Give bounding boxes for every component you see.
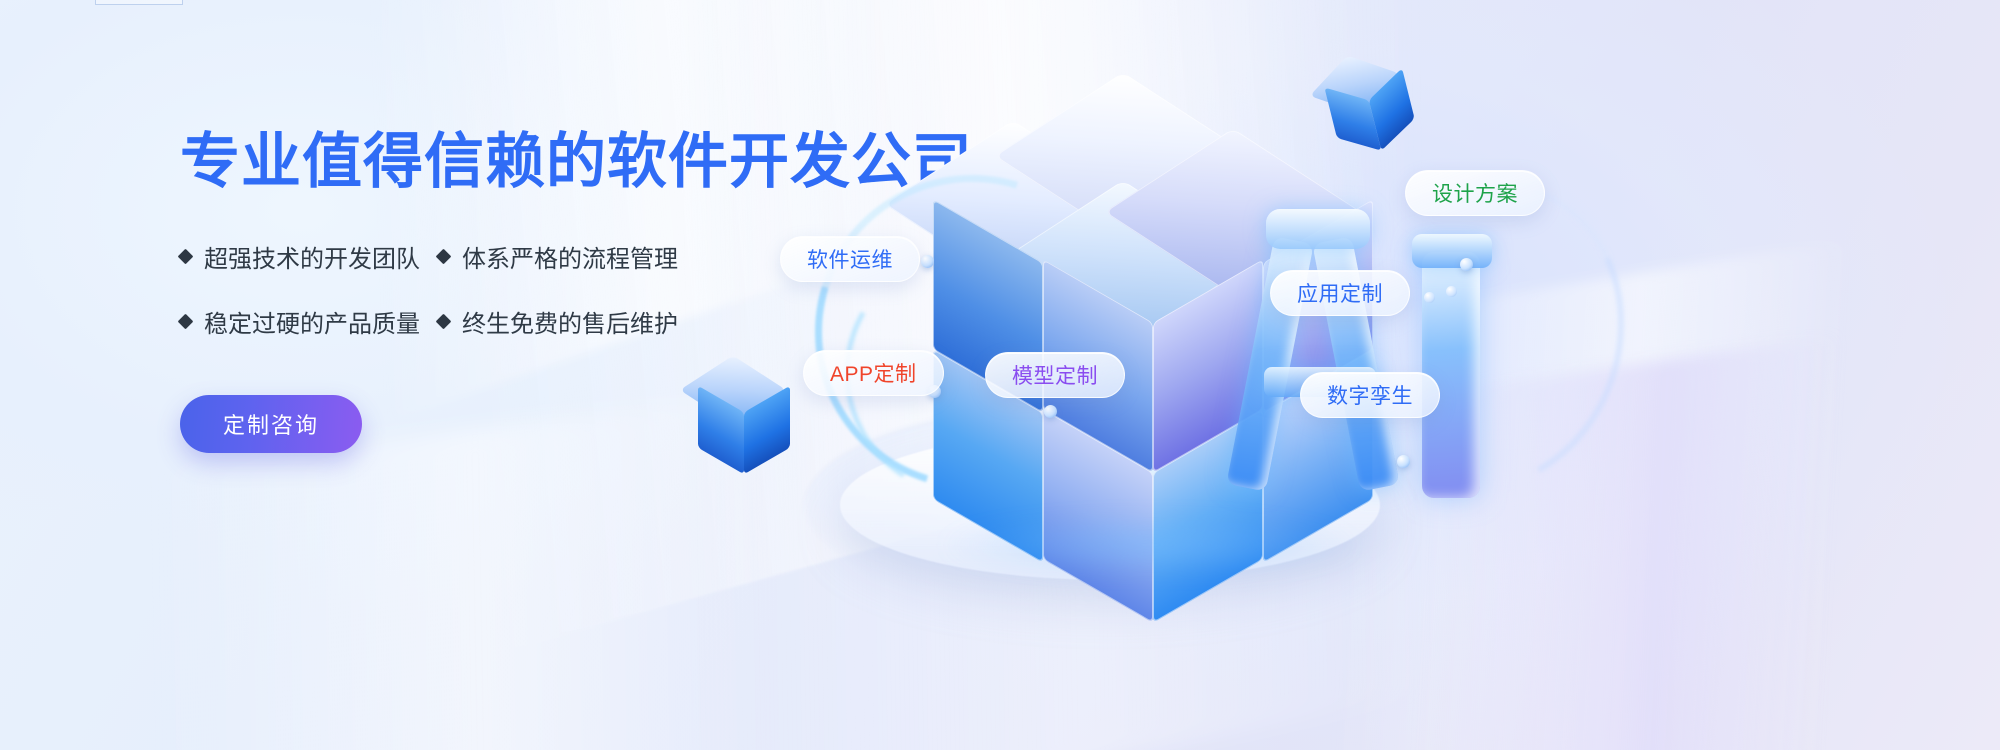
tag-model-custom[interactable]: 模型定制 xyxy=(985,352,1125,398)
feature-label: 超强技术的开发团队 xyxy=(204,239,420,274)
glass-letter-a-graphic xyxy=(1240,215,1400,490)
hero-illustration: 软件运维 APP定制 模型定制 应用定制 设计方案 数字孪生 xyxy=(640,0,2000,750)
ground-reflection-decor xyxy=(940,515,1360,575)
corner-frame-decor xyxy=(95,0,183,5)
hero-banner: 专业值得信赖的软件开发公司 超强技术的开发团队 体系严格的流程管理 稳定过硬的产… xyxy=(0,0,2000,750)
tag-design-plan[interactable]: 设计方案 xyxy=(1405,170,1545,216)
glass-letter-i-graphic xyxy=(1410,230,1496,500)
list-item: 稳定过硬的产品质量 xyxy=(180,304,438,339)
custom-consult-button[interactable]: 定制咨询 xyxy=(180,395,362,453)
diamond-bullet-icon xyxy=(178,249,194,265)
accent-dot-decor xyxy=(1460,258,1473,271)
feature-label: 稳定过硬的产品质量 xyxy=(204,304,420,339)
accent-dot-decor xyxy=(1044,405,1057,418)
letter-stroke xyxy=(1266,209,1370,249)
accent-dot-decor xyxy=(1397,455,1410,468)
tag-software-ops[interactable]: 软件运维 xyxy=(780,236,920,282)
stud-decor xyxy=(1446,286,1457,297)
diamond-bullet-icon xyxy=(436,249,452,265)
accent-dot-decor xyxy=(921,255,934,268)
tag-app-customization[interactable]: APP定制 xyxy=(803,350,944,396)
list-item: 超强技术的开发团队 xyxy=(180,239,438,274)
diamond-bullet-icon xyxy=(436,314,452,330)
stud-decor xyxy=(1424,292,1435,303)
letter-stroke xyxy=(1412,234,1492,268)
tag-digital-twin[interactable]: 数字孪生 xyxy=(1300,372,1440,418)
tag-app-custom[interactable]: 应用定制 xyxy=(1270,270,1410,316)
glass-cube-graphic xyxy=(920,85,1265,505)
diamond-bullet-icon xyxy=(178,314,194,330)
